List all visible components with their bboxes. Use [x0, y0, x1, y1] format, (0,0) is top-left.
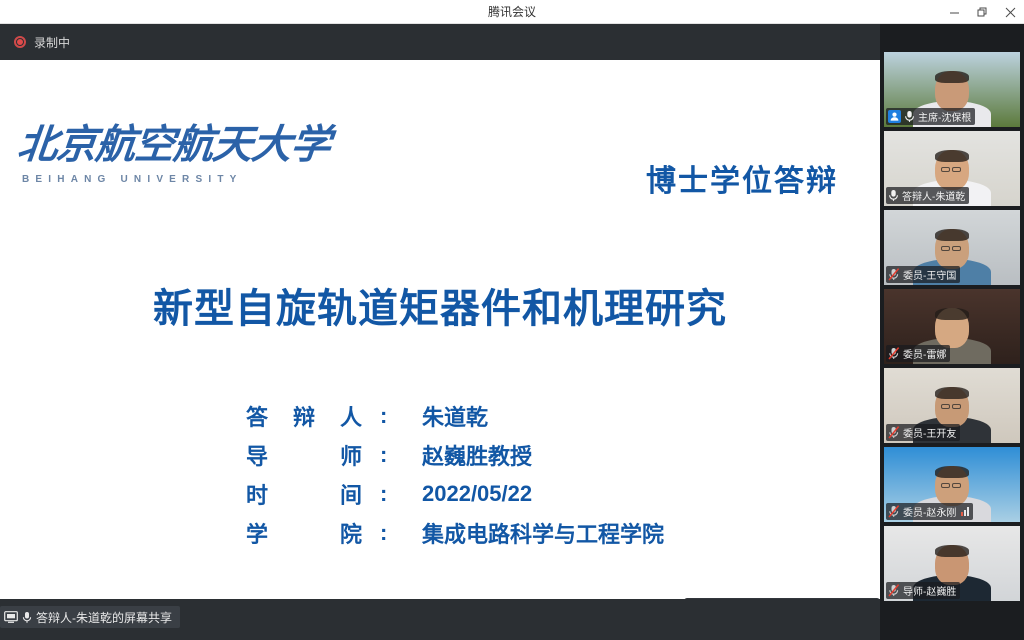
glasses-icon	[941, 483, 961, 488]
participant-name-bar: 导师-赵巍胜	[886, 582, 960, 599]
participant-tile[interactable]: 导师-赵巍胜	[884, 526, 1020, 601]
meta-label-char: 时	[246, 478, 268, 510]
meta-value-date: 2022/05/22	[422, 481, 532, 507]
participant-name-bar: 委员-雷娜	[886, 345, 950, 362]
mic-icon	[888, 189, 899, 202]
participant-name-bar: 主席-沈保根	[886, 108, 975, 125]
participant-head	[935, 545, 969, 585]
participant-name: 主席-沈保根	[918, 109, 971, 124]
host-person-icon	[890, 112, 899, 121]
window-title-bar: 腾讯会议	[0, 0, 1024, 24]
university-logo-en: BEIHANG UNIVERSITY	[22, 174, 308, 185]
meta-row-advisor: 导 师 : 赵巍胜教授	[246, 435, 664, 474]
meta-label-char: 辩	[293, 400, 315, 432]
meta-label-char: 学	[246, 517, 268, 549]
meta-row-school: 学 院 : 集成电路科学与工程学院	[246, 513, 664, 552]
participant-head	[935, 71, 969, 111]
participant-head	[935, 466, 969, 506]
screen-share-status[interactable]: 答辩人-朱道乾的屏幕共享	[0, 606, 180, 628]
meta-colon: :	[362, 520, 422, 546]
mic-icon	[22, 611, 32, 624]
meta-label-school: 学 院	[246, 517, 362, 549]
participant-name-bar: 答辩人-朱道乾	[886, 187, 969, 204]
participant-name-bar: 委员-王守国	[886, 266, 960, 283]
participant-rail[interactable]: 主席-沈保根 答辩人-朱道乾 委员-王守国	[880, 24, 1024, 640]
mic-icon	[904, 110, 915, 123]
slide-meta-table: 答 辩 人 : 朱道乾 导 师 : 赵巍胜教授	[246, 396, 664, 552]
meta-label-char: 导	[246, 439, 268, 471]
university-logo: 北京航空航天大学 BEIHANG UNIVERSITY	[18, 112, 308, 185]
participant-name: 委员-雷娜	[903, 346, 946, 361]
meta-row-presenter: 答 辩 人 : 朱道乾	[246, 396, 664, 435]
participant-tile[interactable]: 委员-王守国	[884, 210, 1020, 285]
maximize-button[interactable]	[968, 0, 996, 24]
close-icon	[1005, 7, 1016, 18]
signal-strength-icon	[961, 507, 969, 516]
university-logo-cn: 北京航空航天大学	[15, 112, 311, 170]
participant-name-bar: 委员-王开友	[886, 424, 960, 441]
meta-value-school: 集成电路科学与工程学院	[422, 517, 664, 549]
meta-label-date: 时 间	[246, 478, 362, 510]
meta-label-char: 师	[340, 439, 362, 471]
mic-muted-icon	[888, 505, 900, 518]
participant-name-bar: 委员-赵永刚	[886, 503, 973, 520]
close-button[interactable]	[996, 0, 1024, 24]
participant-tile[interactable]: 委员-王开友	[884, 368, 1020, 443]
mic-muted-icon	[888, 426, 900, 439]
participant-name: 答辩人-朱道乾	[902, 188, 965, 203]
meta-colon: :	[362, 481, 422, 507]
presentation-slide: 北京航空航天大学 BEIHANG UNIVERSITY 博士学位答辩 新型自旋轨…	[0, 60, 880, 599]
meta-value-presenter: 朱道乾	[422, 400, 488, 432]
participant-tile[interactable]: 委员-赵永刚	[884, 447, 1020, 522]
meta-value-advisor: 赵巍胜教授	[422, 439, 532, 471]
record-dot-icon	[14, 36, 26, 48]
glasses-icon	[941, 246, 961, 251]
minimize-icon	[949, 7, 960, 18]
screen-share-icon	[4, 611, 18, 623]
meeting-window-body: 录制中 北京航空航天大学 BEIHANG UNIVERSITY 博士学位答辩 新…	[0, 24, 1024, 640]
glasses-icon	[941, 404, 961, 409]
restore-icon	[977, 7, 988, 18]
participant-head	[935, 387, 969, 427]
participant-tile[interactable]: 主席-沈保根	[884, 52, 1020, 127]
glasses-icon	[941, 167, 961, 172]
meta-label-advisor: 导 师	[246, 439, 362, 471]
meta-label-char: 院	[340, 517, 362, 549]
minimize-button[interactable]	[940, 0, 968, 24]
window-title: 腾讯会议	[0, 0, 1024, 24]
participant-name: 委员-赵永刚	[903, 504, 956, 519]
meta-colon: :	[362, 442, 422, 468]
mic-muted-icon	[888, 268, 900, 281]
bottom-status-bar: 答辩人-朱道乾的屏幕共享	[0, 599, 880, 640]
participant-name: 导师-赵巍胜	[903, 583, 956, 598]
shared-screen-area[interactable]: 北京航空航天大学 BEIHANG UNIVERSITY 博士学位答辩 新型自旋轨…	[0, 60, 880, 599]
participant-name: 委员-王开友	[903, 425, 956, 440]
participant-head	[935, 308, 969, 348]
meta-row-date: 时 间 : 2022/05/22	[246, 474, 664, 513]
meta-label-char: 答	[246, 400, 268, 432]
recording-label: 录制中	[34, 34, 70, 51]
defense-type-heading: 博士学位答辩	[646, 156, 838, 200]
recording-bar: 录制中	[0, 24, 880, 60]
participant-tile[interactable]: 答辩人-朱道乾	[884, 131, 1020, 206]
participant-head	[935, 229, 969, 269]
meta-label-presenter: 答 辩 人	[246, 400, 362, 432]
mic-muted-icon	[888, 347, 900, 360]
participant-name: 委员-王守国	[903, 267, 956, 282]
slide-title: 新型自旋轨道矩器件和机理研究	[0, 276, 880, 334]
meta-label-char: 间	[340, 478, 362, 510]
meta-colon: :	[362, 403, 422, 429]
meta-label-char: 人	[340, 400, 362, 432]
screen-share-label: 答辩人-朱道乾的屏幕共享	[36, 609, 172, 626]
participant-tile[interactable]: 委员-雷娜	[884, 289, 1020, 364]
window-controls	[940, 0, 1024, 24]
mic-muted-icon	[888, 584, 900, 597]
host-badge-icon	[888, 110, 901, 123]
participant-head	[935, 150, 969, 190]
